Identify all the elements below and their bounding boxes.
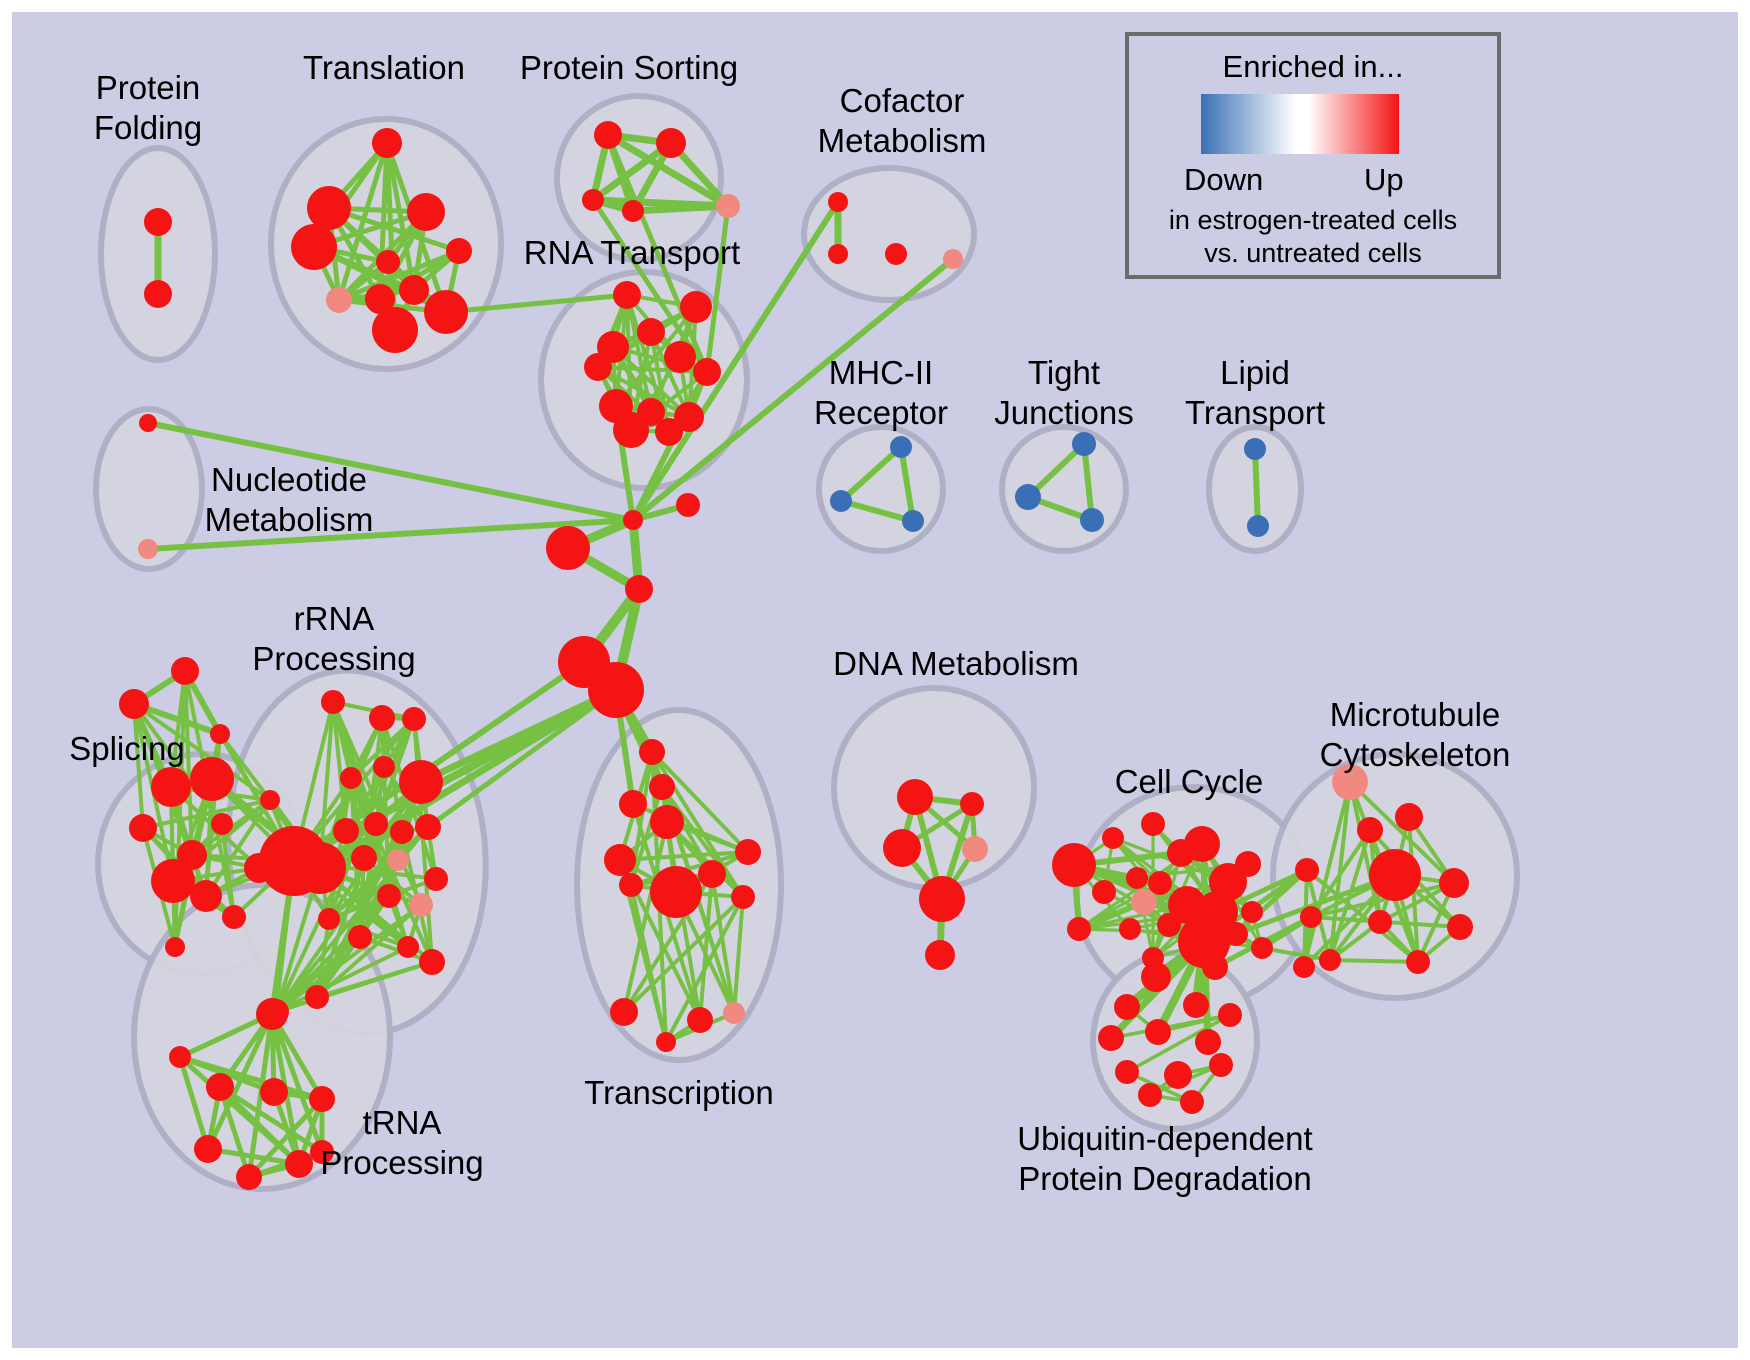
network-node[interactable]	[190, 757, 234, 801]
network-node[interactable]	[373, 756, 395, 778]
network-node[interactable]	[415, 814, 441, 840]
network-node[interactable]	[318, 908, 340, 930]
network-node[interactable]	[960, 792, 984, 816]
network-node[interactable]	[693, 358, 721, 386]
network-node[interactable]	[139, 414, 157, 432]
cluster-label-nucleotide-metabolism: NucleotideMetabolism	[205, 461, 374, 538]
network-node[interactable]	[1202, 954, 1228, 980]
network-node[interactable]	[372, 307, 418, 353]
network-node[interactable]	[165, 937, 185, 957]
network-node[interactable]	[144, 208, 172, 236]
network-node[interactable]	[1244, 438, 1266, 460]
network-node[interactable]	[194, 1135, 222, 1163]
network-node[interactable]	[259, 826, 329, 896]
network-node[interactable]	[650, 805, 684, 839]
network-node[interactable]	[1141, 812, 1165, 836]
network-node[interactable]	[588, 662, 644, 718]
network-node[interactable]	[625, 575, 653, 603]
network-node[interactable]	[582, 189, 604, 211]
network-node[interactable]	[664, 341, 696, 373]
network-node[interactable]	[613, 281, 641, 309]
network-node[interactable]	[676, 493, 700, 517]
network-svg: ProteinFoldingTranslationProtein Sorting…	[12, 12, 1738, 1348]
network-node[interactable]	[1439, 868, 1469, 898]
network-node[interactable]	[151, 859, 195, 903]
network-node[interactable]	[1131, 889, 1157, 915]
network-node[interactable]	[828, 192, 848, 212]
cluster-label-translation: Translation	[303, 49, 465, 86]
network-node[interactable]	[649, 774, 675, 800]
network-node[interactable]	[698, 860, 726, 888]
network-node[interactable]	[1357, 817, 1383, 843]
network-node[interactable]	[419, 949, 445, 975]
network-node[interactable]	[1295, 858, 1319, 882]
network-node[interactable]	[348, 925, 372, 949]
network-node[interactable]	[1098, 1025, 1124, 1051]
cluster-label-protein-sorting: Protein Sorting	[520, 49, 738, 86]
network-node[interactable]	[925, 940, 955, 970]
network-node[interactable]	[1251, 937, 1273, 959]
network-node[interactable]	[1067, 917, 1091, 941]
network-node[interactable]	[305, 985, 329, 1009]
network-node[interactable]	[397, 936, 419, 958]
network-node[interactable]	[285, 1150, 313, 1178]
legend-high-label: Up	[1364, 162, 1404, 197]
network-node[interactable]	[340, 767, 362, 789]
cluster-label-tight-junctions: TightJunctions	[994, 354, 1133, 431]
network-node[interactable]	[1164, 1061, 1192, 1089]
network-node[interactable]	[830, 490, 852, 512]
network-node[interactable]	[1072, 432, 1096, 456]
network-node[interactable]	[594, 121, 622, 149]
network-node[interactable]	[236, 1164, 262, 1190]
cluster-label-ubiquitin-protein-degradation: Ubiquitin-dependentProtein Degradation	[1017, 1120, 1312, 1197]
network-node[interactable]	[424, 290, 468, 334]
network-node[interactable]	[639, 739, 665, 765]
network-node[interactable]	[1235, 851, 1261, 877]
network-node[interactable]	[723, 1002, 745, 1024]
network-node[interactable]	[1369, 849, 1421, 901]
network-node[interactable]	[919, 876, 965, 922]
network-node[interactable]	[680, 291, 712, 323]
network-node[interactable]	[1148, 871, 1172, 895]
network-node[interactable]	[1224, 922, 1248, 946]
network-node[interactable]	[584, 353, 612, 381]
cluster-label-rrna-processing: rRNAProcessing	[252, 600, 415, 677]
network-node[interactable]	[1368, 910, 1392, 934]
network-node[interactable]	[619, 873, 643, 897]
network-node[interactable]	[1218, 1003, 1242, 1027]
cluster-label-mhc-ii-receptor: MHC-IIReceptor	[814, 354, 948, 431]
network-node[interactable]	[211, 813, 233, 835]
network-node[interactable]	[206, 1073, 234, 1101]
network-node[interactable]	[1447, 914, 1473, 940]
network-node[interactable]	[546, 526, 590, 570]
network-node[interactable]	[1092, 880, 1116, 904]
network-node[interactable]	[650, 866, 702, 918]
network-node[interactable]	[309, 1086, 335, 1112]
network-node[interactable]	[623, 510, 643, 530]
network-node[interactable]	[326, 287, 352, 313]
network-node[interactable]	[962, 836, 988, 862]
network-node[interactable]	[1115, 1060, 1139, 1084]
network-node[interactable]	[376, 250, 400, 274]
network-node[interactable]	[377, 884, 401, 908]
network-node[interactable]	[190, 880, 222, 912]
cluster-label-dna-metabolism: DNA Metabolism	[833, 645, 1079, 682]
network-node[interactable]	[1180, 1090, 1204, 1114]
network-node[interactable]	[1080, 508, 1104, 532]
network-node[interactable]	[256, 998, 288, 1030]
network-edge	[633, 206, 728, 211]
network-node[interactable]	[222, 905, 246, 929]
network-node[interactable]	[1145, 1019, 1171, 1045]
network-node[interactable]	[656, 128, 686, 158]
network-node[interactable]	[687, 1007, 713, 1033]
network-node[interactable]	[399, 275, 429, 305]
network-canvas: ProteinFoldingTranslationProtein Sorting…	[12, 12, 1738, 1348]
network-node[interactable]	[138, 539, 158, 559]
network-node[interactable]	[260, 790, 280, 810]
network-node[interactable]	[333, 818, 359, 844]
network-node[interactable]	[407, 193, 445, 231]
legend-title: Enriched in...	[1223, 49, 1404, 84]
network-node[interactable]	[613, 412, 649, 448]
network-node[interactable]	[731, 885, 755, 909]
network-node[interactable]	[1300, 906, 1322, 928]
legend-low-label: Down	[1184, 162, 1263, 197]
network-node[interactable]	[883, 829, 921, 867]
cluster-label-cell-cycle: Cell Cycle	[1115, 763, 1264, 800]
cluster-label-protein-folding: ProteinFolding	[94, 69, 202, 146]
network-node[interactable]	[424, 867, 448, 891]
legend: Enriched in... Down Up in estrogen-treat…	[1127, 34, 1499, 277]
network-node[interactable]	[129, 814, 157, 842]
legend-caption-line2: vs. untreated cells	[1204, 238, 1422, 268]
network-node[interactable]	[1138, 1083, 1162, 1107]
network-node[interactable]	[387, 849, 409, 871]
network-node[interactable]	[1184, 826, 1220, 862]
network-node[interactable]	[1293, 956, 1315, 978]
network-edge	[1255, 449, 1258, 526]
network-node[interactable]	[1183, 992, 1209, 1018]
network-node[interactable]	[210, 724, 230, 744]
network-node[interactable]	[144, 280, 172, 308]
figure-root: ProteinFoldingTranslationProtein Sorting…	[0, 0, 1750, 1360]
network-node[interactable]	[446, 238, 472, 264]
network-node[interactable]	[655, 418, 683, 446]
network-node[interactable]	[399, 760, 443, 804]
network-node[interactable]	[321, 690, 345, 714]
network-node[interactable]	[1395, 803, 1423, 831]
network-node[interactable]	[1406, 950, 1430, 974]
network-node[interactable]	[1114, 994, 1140, 1020]
network-node[interactable]	[169, 1046, 191, 1068]
network-node[interactable]	[1052, 843, 1096, 887]
network-node[interactable]	[1157, 913, 1181, 937]
network-node[interactable]	[291, 224, 337, 270]
cluster-label-rna-transport: RNA Transport	[524, 234, 740, 271]
network-node[interactable]	[890, 436, 912, 458]
network-node[interactable]	[828, 244, 848, 264]
network-node[interactable]	[943, 249, 963, 269]
network-node[interactable]	[716, 194, 740, 218]
network-node[interactable]	[372, 128, 402, 158]
network-node[interactable]	[1126, 867, 1148, 889]
cluster-label-microtubule-cytoskeleton: MicrotubuleCytoskeleton	[1320, 696, 1511, 773]
cluster-halo-mhc-ii-receptor	[819, 427, 943, 551]
network-node[interactable]	[351, 845, 377, 871]
cluster-label-lipid-transport: LipidTransport	[1185, 354, 1325, 431]
network-node[interactable]	[885, 243, 907, 265]
cluster-halo-cofactor-metabolism	[804, 168, 974, 300]
network-node[interactable]	[1141, 962, 1171, 992]
network-node[interactable]	[902, 510, 924, 532]
network-node[interactable]	[897, 779, 933, 815]
network-node[interactable]	[1015, 484, 1041, 510]
network-node[interactable]	[1319, 949, 1341, 971]
legend-caption-line1: in estrogen-treated cells	[1169, 205, 1457, 235]
network-node[interactable]	[364, 812, 388, 836]
network-node[interactable]	[1247, 515, 1269, 537]
legend-gradient-bar	[1201, 94, 1399, 154]
network-node[interactable]	[402, 707, 426, 731]
network-node[interactable]	[1102, 827, 1124, 849]
network-node[interactable]	[151, 767, 191, 807]
cluster-label-cofactor-metabolism: CofactorMetabolism	[818, 82, 987, 159]
network-node[interactable]	[390, 820, 414, 844]
network-node[interactable]	[171, 657, 199, 685]
network-node[interactable]	[369, 705, 395, 731]
network-node[interactable]	[656, 1032, 676, 1052]
network-node[interactable]	[610, 998, 638, 1026]
network-node[interactable]	[409, 893, 433, 917]
network-node[interactable]	[735, 839, 761, 865]
network-node[interactable]	[1241, 901, 1263, 923]
network-node[interactable]	[619, 790, 647, 818]
network-node[interactable]	[604, 844, 636, 876]
network-node[interactable]	[622, 200, 644, 222]
network-node[interactable]	[260, 1078, 288, 1106]
network-node[interactable]	[1195, 1029, 1221, 1055]
cluster-label-transcription: Transcription	[584, 1074, 774, 1111]
network-node[interactable]	[1119, 918, 1141, 940]
network-node[interactable]	[637, 318, 665, 346]
network-node[interactable]	[307, 186, 351, 230]
network-node[interactable]	[1209, 1053, 1233, 1077]
network-node[interactable]	[119, 689, 149, 719]
network-edge	[1330, 960, 1418, 962]
cluster-label-splicing: Splicing	[69, 730, 185, 767]
